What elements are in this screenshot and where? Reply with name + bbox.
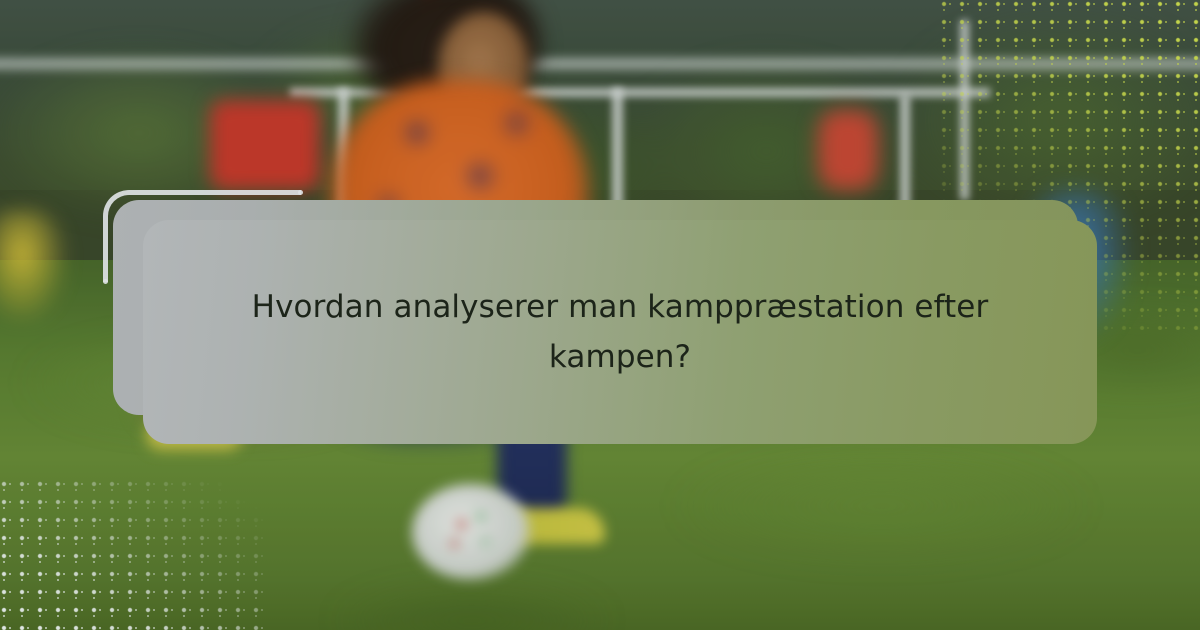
share-card-canvas: Hvordan analyserer man kamppræstation ef… (0, 0, 1200, 630)
title-card[interactable]: Hvordan analyserer man kamppræstation ef… (143, 220, 1097, 444)
page-title: Hvordan analyserer man kamppræstation ef… (143, 282, 1097, 382)
